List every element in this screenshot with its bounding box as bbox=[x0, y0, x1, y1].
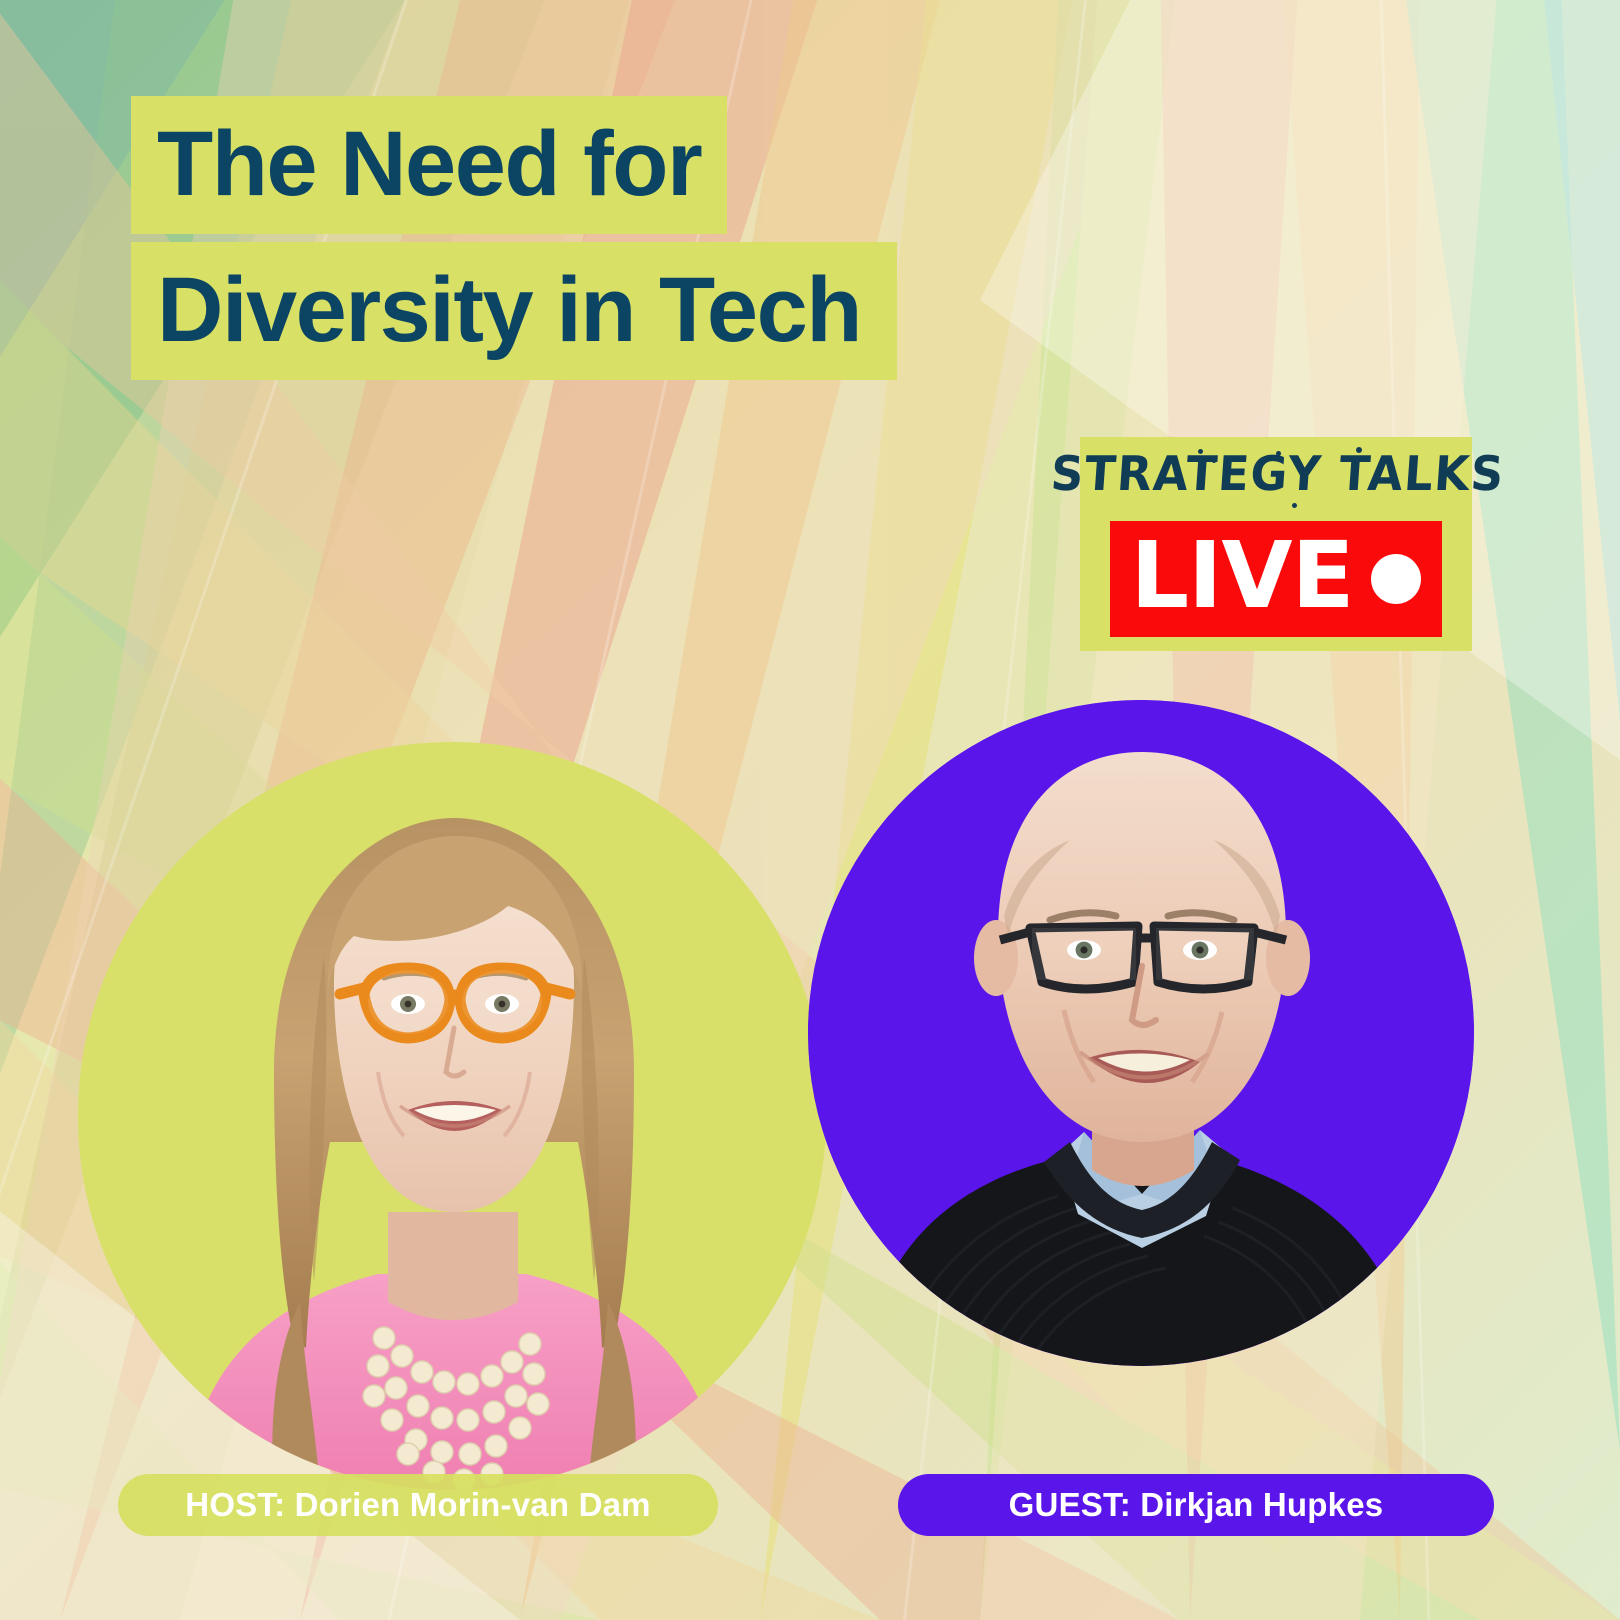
page-title: The Need for Diversity in Tech bbox=[131, 96, 897, 388]
guest-name-pill: GUEST: Dirkjan Hupkes bbox=[898, 1474, 1494, 1536]
title-line-1: The Need for bbox=[131, 96, 727, 234]
ink-speck-icon bbox=[1292, 503, 1297, 508]
guest-photo-circle bbox=[808, 700, 1474, 1366]
live-dot-icon bbox=[1371, 554, 1421, 604]
host-name-pill: HOST: Dorien Morin-van Dam bbox=[118, 1474, 718, 1536]
guest-name-label: GUEST: Dirkjan Hupkes bbox=[1009, 1486, 1384, 1524]
host-portrait bbox=[78, 742, 826, 1490]
strategy-talks-live-badge: STRATEGY TALKS LIVE bbox=[1080, 437, 1472, 651]
badge-title-row: STRATEGY TALKS bbox=[1080, 437, 1472, 509]
title-line-2: Diversity in Tech bbox=[131, 242, 897, 380]
live-label: LIVE bbox=[1131, 530, 1354, 622]
host-photo-circle bbox=[78, 742, 826, 1490]
promo-graphic: The Need for Diversity in Tech STRATEGY … bbox=[0, 0, 1620, 1620]
guest-portrait bbox=[808, 700, 1474, 1366]
badge-show-name: STRATEGY TALKS bbox=[1045, 445, 1507, 501]
live-block: LIVE bbox=[1110, 521, 1442, 637]
host-name-label: HOST: Dorien Morin-van Dam bbox=[185, 1486, 650, 1524]
